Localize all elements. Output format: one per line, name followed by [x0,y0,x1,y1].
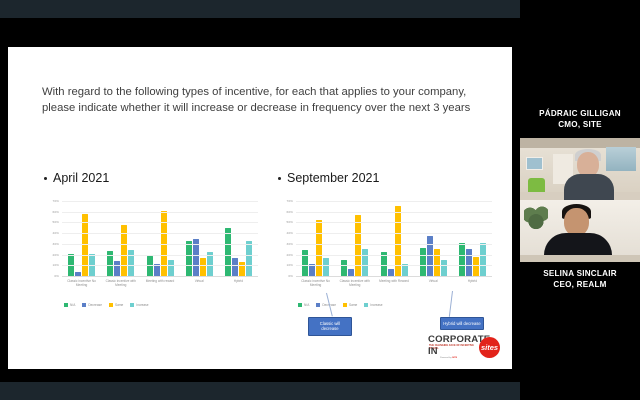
legend-item: N/A [298,303,309,307]
chart-title-april: April 2021 [44,171,268,185]
participant-nameplate-2: SELINA SINCLAIR CEO, REALM [520,268,640,290]
plant-shape [524,206,548,232]
bar-decrease [75,272,81,276]
legend-swatch [130,303,134,307]
legend-item: N/A [64,303,75,307]
y-axis-tick: 60% [287,210,294,214]
bar-chart-september: Classic incentive No MeetingClassic ince… [272,199,494,307]
x-axis-label: Hybrid [221,279,255,283]
plot-area: Classic incentive No MeetingClassic ince… [62,201,258,277]
x-axis-label: Classic incentive No Meeting [65,279,99,287]
gridline [296,233,492,234]
legend-label: Increase [370,303,382,307]
bar-increase [168,260,174,276]
y-axis-tick: 0% [54,274,59,278]
bar-na [459,243,465,276]
person-body [564,174,614,200]
video-call-window: With regard to the following types of in… [0,0,640,400]
gridline [296,244,492,245]
legend-label: N/A [70,303,75,307]
bar-decrease [427,236,433,276]
y-axis-tick: 50% [53,220,60,224]
bar-na [381,252,387,276]
y-axis-tick: 40% [287,231,294,235]
logo-word-in: IN [428,345,438,356]
participant-rail: PÁDRAIC GILLIGAN CMO, SITE SELINA SINCLA… [520,0,640,400]
legend-item: Decrease [82,303,102,307]
desk-shape [520,255,640,262]
video-tile-padraic[interactable] [520,138,640,200]
gridline [62,212,258,213]
gridline [296,265,492,266]
chart-title-label: September 2021 [287,171,379,185]
x-axis-label: Virtual [182,279,216,283]
bar-same [473,257,479,276]
window-shape [606,147,636,171]
y-axis-tick: 0% [288,274,293,278]
bar-decrease [466,249,472,276]
bar-decrease [114,261,120,276]
y-axis-tick: 50% [287,220,294,224]
y-axis-tick: 30% [53,242,60,246]
bar-increase [207,252,213,276]
participant-role: CEO, REALM [520,279,640,290]
legend-label: Increase [136,303,148,307]
y-axis-tick: 10% [287,263,294,267]
bar-same [200,258,206,276]
bar-na [186,241,192,276]
legend-swatch [343,303,347,307]
gridline [62,255,258,256]
participant-role: CMO, SITE [520,119,640,130]
legend-item: Decrease [316,303,336,307]
bullet-icon [278,177,281,180]
chart-legend: N/ADecreaseSameIncrease [64,303,149,307]
legend-label: Same [115,303,123,307]
participant-nameplate-1: PÁDRAIC GILLIGAN CMO, SITE [520,108,640,130]
x-axis-label: Classic incentive with Meeting [338,279,372,287]
gridline [296,201,492,202]
gridline [62,265,258,266]
legend-swatch [82,303,86,307]
chart-legend: N/ADecreaseSameIncrease [298,303,383,307]
gridline [62,233,258,234]
bullet-icon [44,177,47,180]
legend-swatch [109,303,113,307]
bar-na [341,260,347,276]
bar-decrease [388,269,394,277]
bar-increase [362,249,368,276]
bar-decrease [232,258,238,276]
bar-na [420,248,426,276]
legend-swatch [364,303,368,307]
legend-label: N/A [304,303,309,307]
page-title: With regard to the following types of in… [42,85,482,116]
legend-item: Increase [130,303,148,307]
bar-same [239,262,245,276]
y-axis-tick: 30% [287,242,294,246]
bar-decrease [348,269,354,277]
legend-swatch [298,303,302,307]
bar-increase [441,260,447,276]
gridline [296,222,492,223]
y-axis-tick: 70% [53,199,60,203]
callout-text: Classic will decrease [320,321,340,331]
y-axis-tick: 70% [287,199,294,203]
x-axis-label: Meeting with Reward [377,279,411,283]
person-head [564,208,589,236]
logo-circle-icon: sites [479,337,500,358]
corporate-insites-logo: CORPORATE THE CHANGING FACE OF INCENTIVE… [426,333,502,363]
y-axis-tick: 40% [53,231,60,235]
callout-text: Hybrid will decrease [443,321,480,326]
video-tile-selina[interactable] [520,200,640,262]
gridline [296,255,492,256]
bar-same [316,220,322,276]
bar-na [225,228,231,276]
hybrid-callout: Hybrid will decrease [440,317,484,330]
plot-area: Classic incentive No MeetingClassic ince… [296,201,492,277]
classic-callout: Classic will decrease [308,317,352,336]
bar-same [434,249,440,276]
wall-art [526,157,543,170]
bar-increase [323,258,329,276]
chart-title-label: April 2021 [53,171,109,185]
y-axis-tick: 60% [53,210,60,214]
x-axis-label: Classic incentive with Meeting [104,279,138,287]
legend-item: Same [109,303,123,307]
legend-swatch [316,303,320,307]
slide: With regard to the following types of in… [8,47,512,369]
chart-panel-september: September 2021 Classic incentive No Meet… [272,171,502,307]
gridline [296,212,492,213]
gridline [62,222,258,223]
bar-increase [246,241,252,276]
bar-increase [480,243,486,276]
logo-powered-brand: SITE [452,357,457,359]
y-axis-tick: 20% [53,253,60,257]
bar-same [355,215,361,276]
x-axis-label: Meeting with reward [143,279,177,283]
logo-word-sites: sites [479,337,500,358]
presentation-stage: With regard to the following types of in… [0,18,520,382]
participant-name: PÁDRAIC GILLIGAN [520,108,640,119]
chart-panel-april: April 2021 Classic incentive No MeetingC… [38,171,268,307]
legend-item: Increase [364,303,382,307]
legend-item: Same [343,303,357,307]
participant-name: SELINA SINCLAIR [520,268,640,279]
x-axis-label: Classic incentive No Meeting [299,279,333,287]
legend-label: Decrease [88,303,102,307]
y-axis-tick: 10% [53,263,60,267]
logo-powered-by: Powered by SITE [440,357,457,359]
legend-label: Same [349,303,357,307]
chart-title-september: September 2021 [278,171,502,185]
x-axis-label: Virtual [416,279,450,283]
legend-swatch [64,303,68,307]
x-axis-label: Hybrid [455,279,489,283]
y-axis-tick: 20% [287,253,294,257]
gridline [62,201,258,202]
bar-chart-april: Classic incentive No MeetingClassic ince… [38,199,260,307]
gridline [62,244,258,245]
